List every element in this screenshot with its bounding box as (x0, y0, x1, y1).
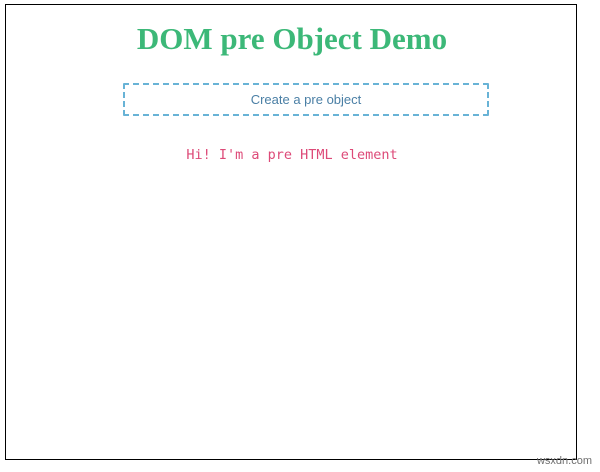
page-frame: DOM pre Object Demo Create a pre object … (5, 4, 577, 460)
pre-output-text: Hi! I'm a pre HTML element (6, 146, 577, 164)
watermark-label: wsxdn.com (537, 455, 592, 468)
page-title: DOM pre Object Demo (6, 21, 577, 57)
create-pre-object-button[interactable]: Create a pre object (123, 83, 489, 116)
